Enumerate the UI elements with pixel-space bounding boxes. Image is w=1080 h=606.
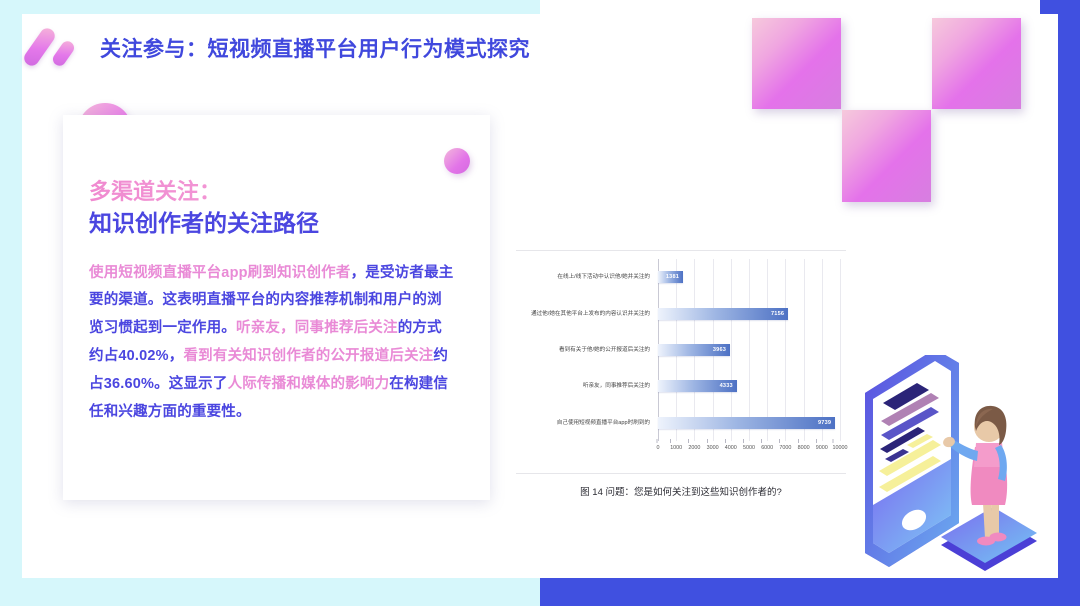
bar-row: 7156 <box>658 308 840 320</box>
paragraph-run: 使用短视频直播平台app刷到知识创作者 <box>89 265 351 281</box>
gridline <box>840 259 841 441</box>
double-slash-icon <box>30 28 84 68</box>
x-tick-mark <box>707 439 708 443</box>
category-label: 听亲友，同事推荐后关注的 <box>583 380 650 392</box>
x-tick: 9000 <box>816 445 828 451</box>
x-tick: 5000 <box>743 445 755 451</box>
x-tick: 2000 <box>688 445 700 451</box>
x-tick-mark <box>761 439 762 443</box>
card-paragraph: 使用短视频直播平台app刷到知识创作者，是受访者最主要的渠道。这表明直播平台的内… <box>89 260 456 427</box>
card-kicker: 多渠道关注： <box>89 177 456 206</box>
bar-value-label: 3963 <box>713 347 726 353</box>
category-label: 在线上/线下活动中认识他/她并关注的 <box>557 271 650 283</box>
x-tick: 7000 <box>779 445 791 451</box>
bar-chart: 在线上/线下活动中认识他/她并关注的通过他/她在其他平台上发布的内容认识并关注的… <box>516 250 846 474</box>
x-tick: 6000 <box>761 445 773 451</box>
x-tick: 8000 <box>798 445 810 451</box>
chart-plot-area: 13817156396343339739 <box>658 259 840 441</box>
x-tick: 0 <box>657 445 660 451</box>
chart-caption: 图 14 问题：您是如何关注到这些知识创作者的? <box>516 484 846 498</box>
header: 关注参与：短视频直播平台用户行为模式探究 <box>30 28 530 68</box>
x-tick-mark <box>779 439 780 443</box>
x-tick: 4000 <box>725 445 737 451</box>
page-title: 关注参与：短视频直播平台用户行为模式探究 <box>100 33 530 63</box>
x-tick: 3000 <box>707 445 719 451</box>
woman-touching-phone-illustration <box>845 355 1077 580</box>
bar-row: 9739 <box>658 417 840 429</box>
chart-x-axis: 0100020003000400050006000700080009000100… <box>658 445 840 459</box>
slide: 关注参与：短视频直播平台用户行为模式探究 多渠道关注： 知识创作者的关注路径 使… <box>0 0 1080 606</box>
bar-row: 3963 <box>658 344 840 356</box>
decor-square-1 <box>752 18 841 109</box>
x-tick-mark <box>657 439 658 443</box>
x-tick-mark <box>670 439 671 443</box>
card-headline: 知识创作者的关注路径 <box>89 207 456 239</box>
decor-circle-small <box>444 148 470 174</box>
bar-value-label: 7156 <box>771 311 784 317</box>
x-tick-mark <box>833 439 834 443</box>
decor-square-3 <box>842 110 931 202</box>
x-tick: 1000 <box>670 445 682 451</box>
category-label: 看到有关于他/她的公开报道后关注的 <box>559 344 650 356</box>
bar-value-label: 9739 <box>818 420 831 426</box>
bar-row: 1381 <box>658 271 840 283</box>
bar: 4333 <box>658 380 737 392</box>
bar: 1381 <box>658 271 683 283</box>
category-label: 自己使用短视频直播平台app时刷到的 <box>557 417 650 429</box>
bar-row: 4333 <box>658 380 840 392</box>
chart-bars: 13817156396343339739 <box>658 259 840 441</box>
x-tick-mark <box>743 439 744 443</box>
paragraph-run: 人际传播和媒体的影响力 <box>228 376 390 392</box>
decor-square-2 <box>932 18 1021 109</box>
x-tick-mark <box>725 439 726 443</box>
category-label: 通过他/她在其他平台上发布的内容认识并关注的 <box>531 308 650 320</box>
x-tick-mark <box>816 439 817 443</box>
text-card: 多渠道关注： 知识创作者的关注路径 使用短视频直播平台app刷到知识创作者，是受… <box>63 115 490 500</box>
x-tick-mark <box>688 439 689 443</box>
bar-value-label: 1381 <box>666 274 679 280</box>
x-tick-mark <box>798 439 799 443</box>
bar-value-label: 4333 <box>720 383 733 389</box>
bar: 7156 <box>658 308 788 320</box>
bar: 3963 <box>658 344 730 356</box>
paragraph-run: 听亲友，同事推荐后关注 <box>236 320 398 336</box>
chart-category-labels: 在线上/线下活动中认识他/她并关注的通过他/她在其他平台上发布的内容认识并关注的… <box>516 259 654 441</box>
paragraph-run: 看到有关知识创作者的公开报道后关注 <box>183 348 433 364</box>
bar: 9739 <box>658 417 835 429</box>
